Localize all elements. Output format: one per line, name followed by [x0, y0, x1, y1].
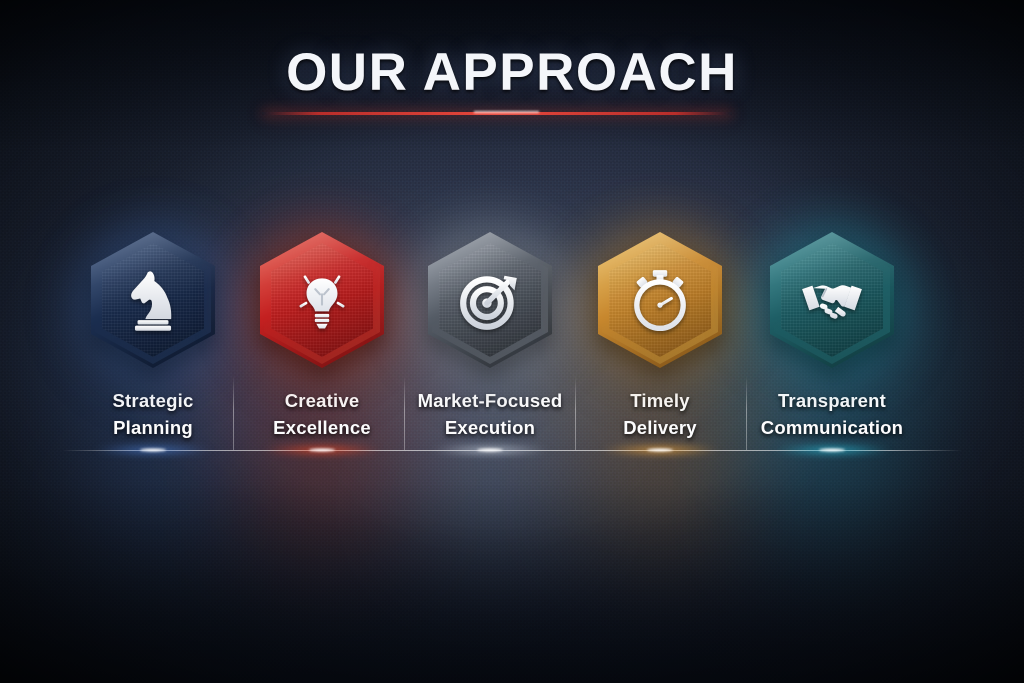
baseline-glow-core-creative-excellence	[309, 449, 335, 452]
baseline-glow-core-market-focused-execution	[477, 449, 503, 452]
badge-transparent-communication[interactable]	[770, 232, 894, 368]
badge-strategic-planning[interactable]	[91, 232, 215, 368]
pillar-label-market-focused-execution: Market-FocusedExecution	[405, 388, 575, 442]
baseline-glow-core-transparent-communication	[819, 449, 845, 452]
pillar-label-transparent-communication: TransparentCommunication	[747, 388, 917, 442]
title-underline	[262, 112, 732, 115]
pillar-label-line1: Market-Focused	[405, 388, 575, 415]
pillar-label-timely-delivery: TimelyDelivery	[575, 388, 745, 442]
lightbulb-icon	[260, 232, 384, 368]
column-divider-1	[233, 376, 234, 450]
page-title-text: OUR APPROACH	[0, 46, 1024, 99]
pillar-label-line1: Strategic	[68, 388, 238, 415]
infographic-canvas: OUR APPROACH StrategicPlanningCreativeEx…	[0, 0, 1024, 683]
pillar-label-line1: Transparent	[747, 388, 917, 415]
baseline-glow-core-strategic-planning	[140, 449, 166, 452]
badge-creative-excellence[interactable]	[260, 232, 384, 368]
pillar-market-focused-execution[interactable]: Market-FocusedExecution	[405, 232, 575, 442]
target-arrow-icon	[428, 232, 552, 368]
pillar-columns: StrategicPlanningCreativeExcellenceMarke…	[0, 0, 1024, 683]
pillar-creative-excellence[interactable]: CreativeExcellence	[237, 232, 407, 442]
pillar-timely-delivery[interactable]: TimelyDelivery	[575, 232, 745, 442]
pillar-label-creative-excellence: CreativeExcellence	[237, 388, 407, 442]
handshake-icon	[770, 232, 894, 368]
badge-timely-delivery[interactable]	[598, 232, 722, 368]
column-divider-2	[404, 376, 405, 450]
pillar-label-line2: Excellence	[237, 415, 407, 442]
pillar-label-line2: Delivery	[575, 415, 745, 442]
pillar-label-line2: Planning	[68, 415, 238, 442]
pillar-label-line2: Execution	[405, 415, 575, 442]
pillar-label-line2: Communication	[747, 415, 917, 442]
badge-market-focused-execution[interactable]	[428, 232, 552, 368]
page-title: OUR APPROACH	[0, 46, 1024, 99]
column-divider-3	[575, 376, 576, 450]
pillar-transparent-communication[interactable]: TransparentCommunication	[747, 232, 917, 442]
pillar-label-strategic-planning: StrategicPlanning	[68, 388, 238, 442]
chess-knight-icon	[91, 232, 215, 368]
baseline-glow-core-timely-delivery	[647, 449, 673, 452]
pillar-label-line1: Timely	[575, 388, 745, 415]
pillar-label-line1: Creative	[237, 388, 407, 415]
stopwatch-icon	[598, 232, 722, 368]
pillar-strategic-planning[interactable]: StrategicPlanning	[68, 232, 238, 442]
column-divider-4	[746, 376, 747, 450]
